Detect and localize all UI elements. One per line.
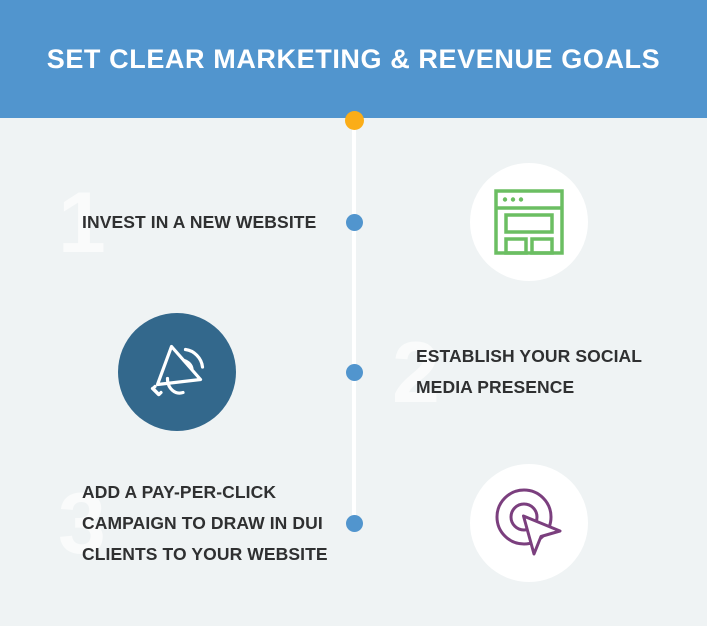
step-3-label: ADD A PAY-PER-CLICK CAMPAIGN TO DRAW IN …	[82, 477, 333, 570]
step-1-text-block: 1 INVEST IN A NEW WEBSITE	[58, 162, 333, 282]
step-2-text-block: 2 ESTABLISH YOUR SOCIAL MEDIA PRESENCE	[392, 312, 682, 432]
timeline-start-dot	[345, 111, 364, 130]
step-2-label: ESTABLISH YOUR SOCIAL MEDIA PRESENCE	[416, 341, 682, 403]
page-title: SET CLEAR MARKETING & REVENUE GOALS	[47, 44, 661, 75]
step-3-text-block: 3 ADD A PAY-PER-CLICK CAMPAIGN TO DRAW I…	[58, 463, 333, 583]
step-row-1: 1 INVEST IN A NEW WEBSITE	[0, 162, 707, 282]
header-banner: SET CLEAR MARKETING & REVENUE GOALS	[0, 0, 707, 118]
browser-window-icon	[494, 189, 564, 255]
infographic-canvas: SET CLEAR MARKETING & REVENUE GOALS 1 IN…	[0, 0, 707, 626]
step-1-label: INVEST IN A NEW WEBSITE	[82, 207, 316, 238]
target-cursor-icon	[490, 485, 568, 561]
step-row-3: 3 ADD A PAY-PER-CLICK CAMPAIGN TO DRAW I…	[0, 463, 707, 583]
step-1-icon-circle	[470, 163, 588, 281]
megaphone-icon	[138, 335, 216, 409]
step-2-icon-circle	[118, 313, 236, 431]
step-row-2: 2 ESTABLISH YOUR SOCIAL MEDIA PRESENCE	[0, 312, 707, 432]
step-3-icon-circle	[470, 464, 588, 582]
